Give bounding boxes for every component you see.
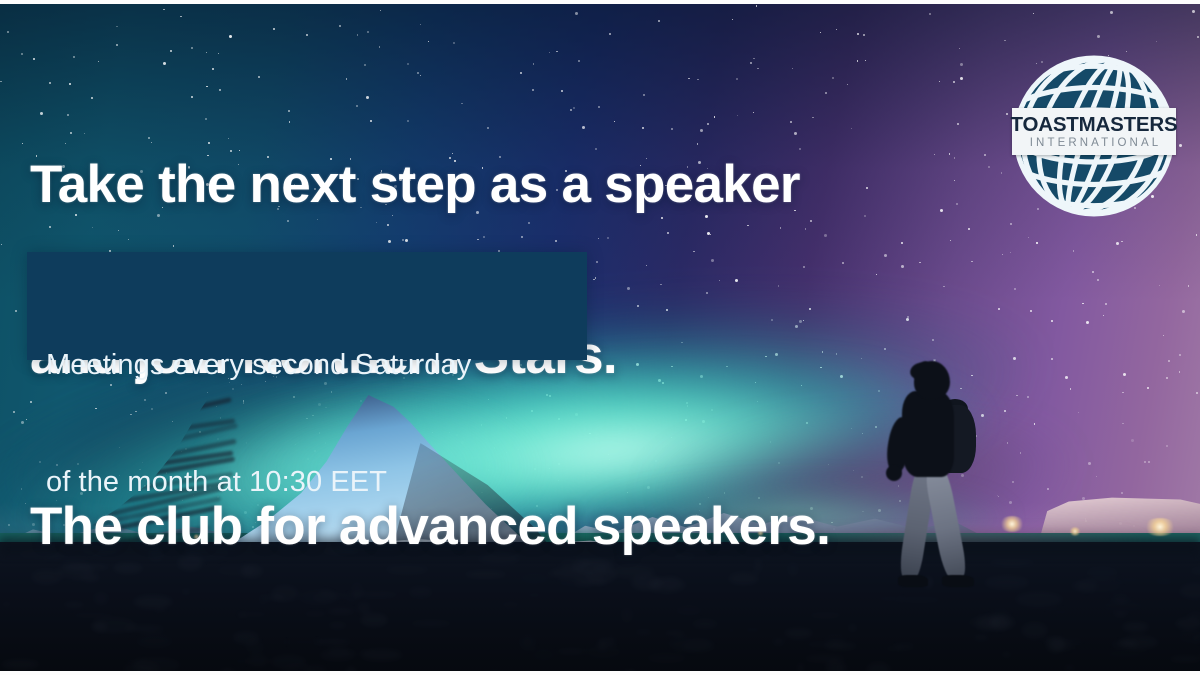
logo-nameplate: TOASTMASTERS INTERNATIONAL	[1012, 108, 1176, 155]
hiker-silhouette	[888, 361, 1008, 593]
meeting-info-line-2: of the month at 10:30 EET	[46, 463, 576, 502]
headline-line-1: Take the next step as a speaker	[30, 156, 830, 213]
hiker-front-boot	[942, 575, 974, 587]
bottom-letterbox-strip	[0, 671, 1200, 675]
top-letterbox-strip	[0, 0, 1200, 4]
hiker-back-boot	[898, 575, 928, 587]
logo-secondary-text: INTERNATIONAL	[1027, 136, 1161, 150]
meeting-info-line-1: Meetings every second Saturday	[46, 346, 576, 385]
hiker-hand	[886, 465, 902, 481]
meeting-info-box: Meetings every second Saturday of the mo…	[27, 252, 587, 360]
meeting-info-text: Meetings every second Saturday of the mo…	[46, 268, 576, 580]
toastmasters-logo: TOASTMASTERS INTERNATIONAL	[1008, 50, 1180, 222]
logo-primary-text: TOASTMASTERS	[1011, 114, 1178, 135]
promotional-banner: Take the next step as a speaker and join…	[0, 0, 1200, 675]
hiker-front-leg	[924, 466, 969, 581]
